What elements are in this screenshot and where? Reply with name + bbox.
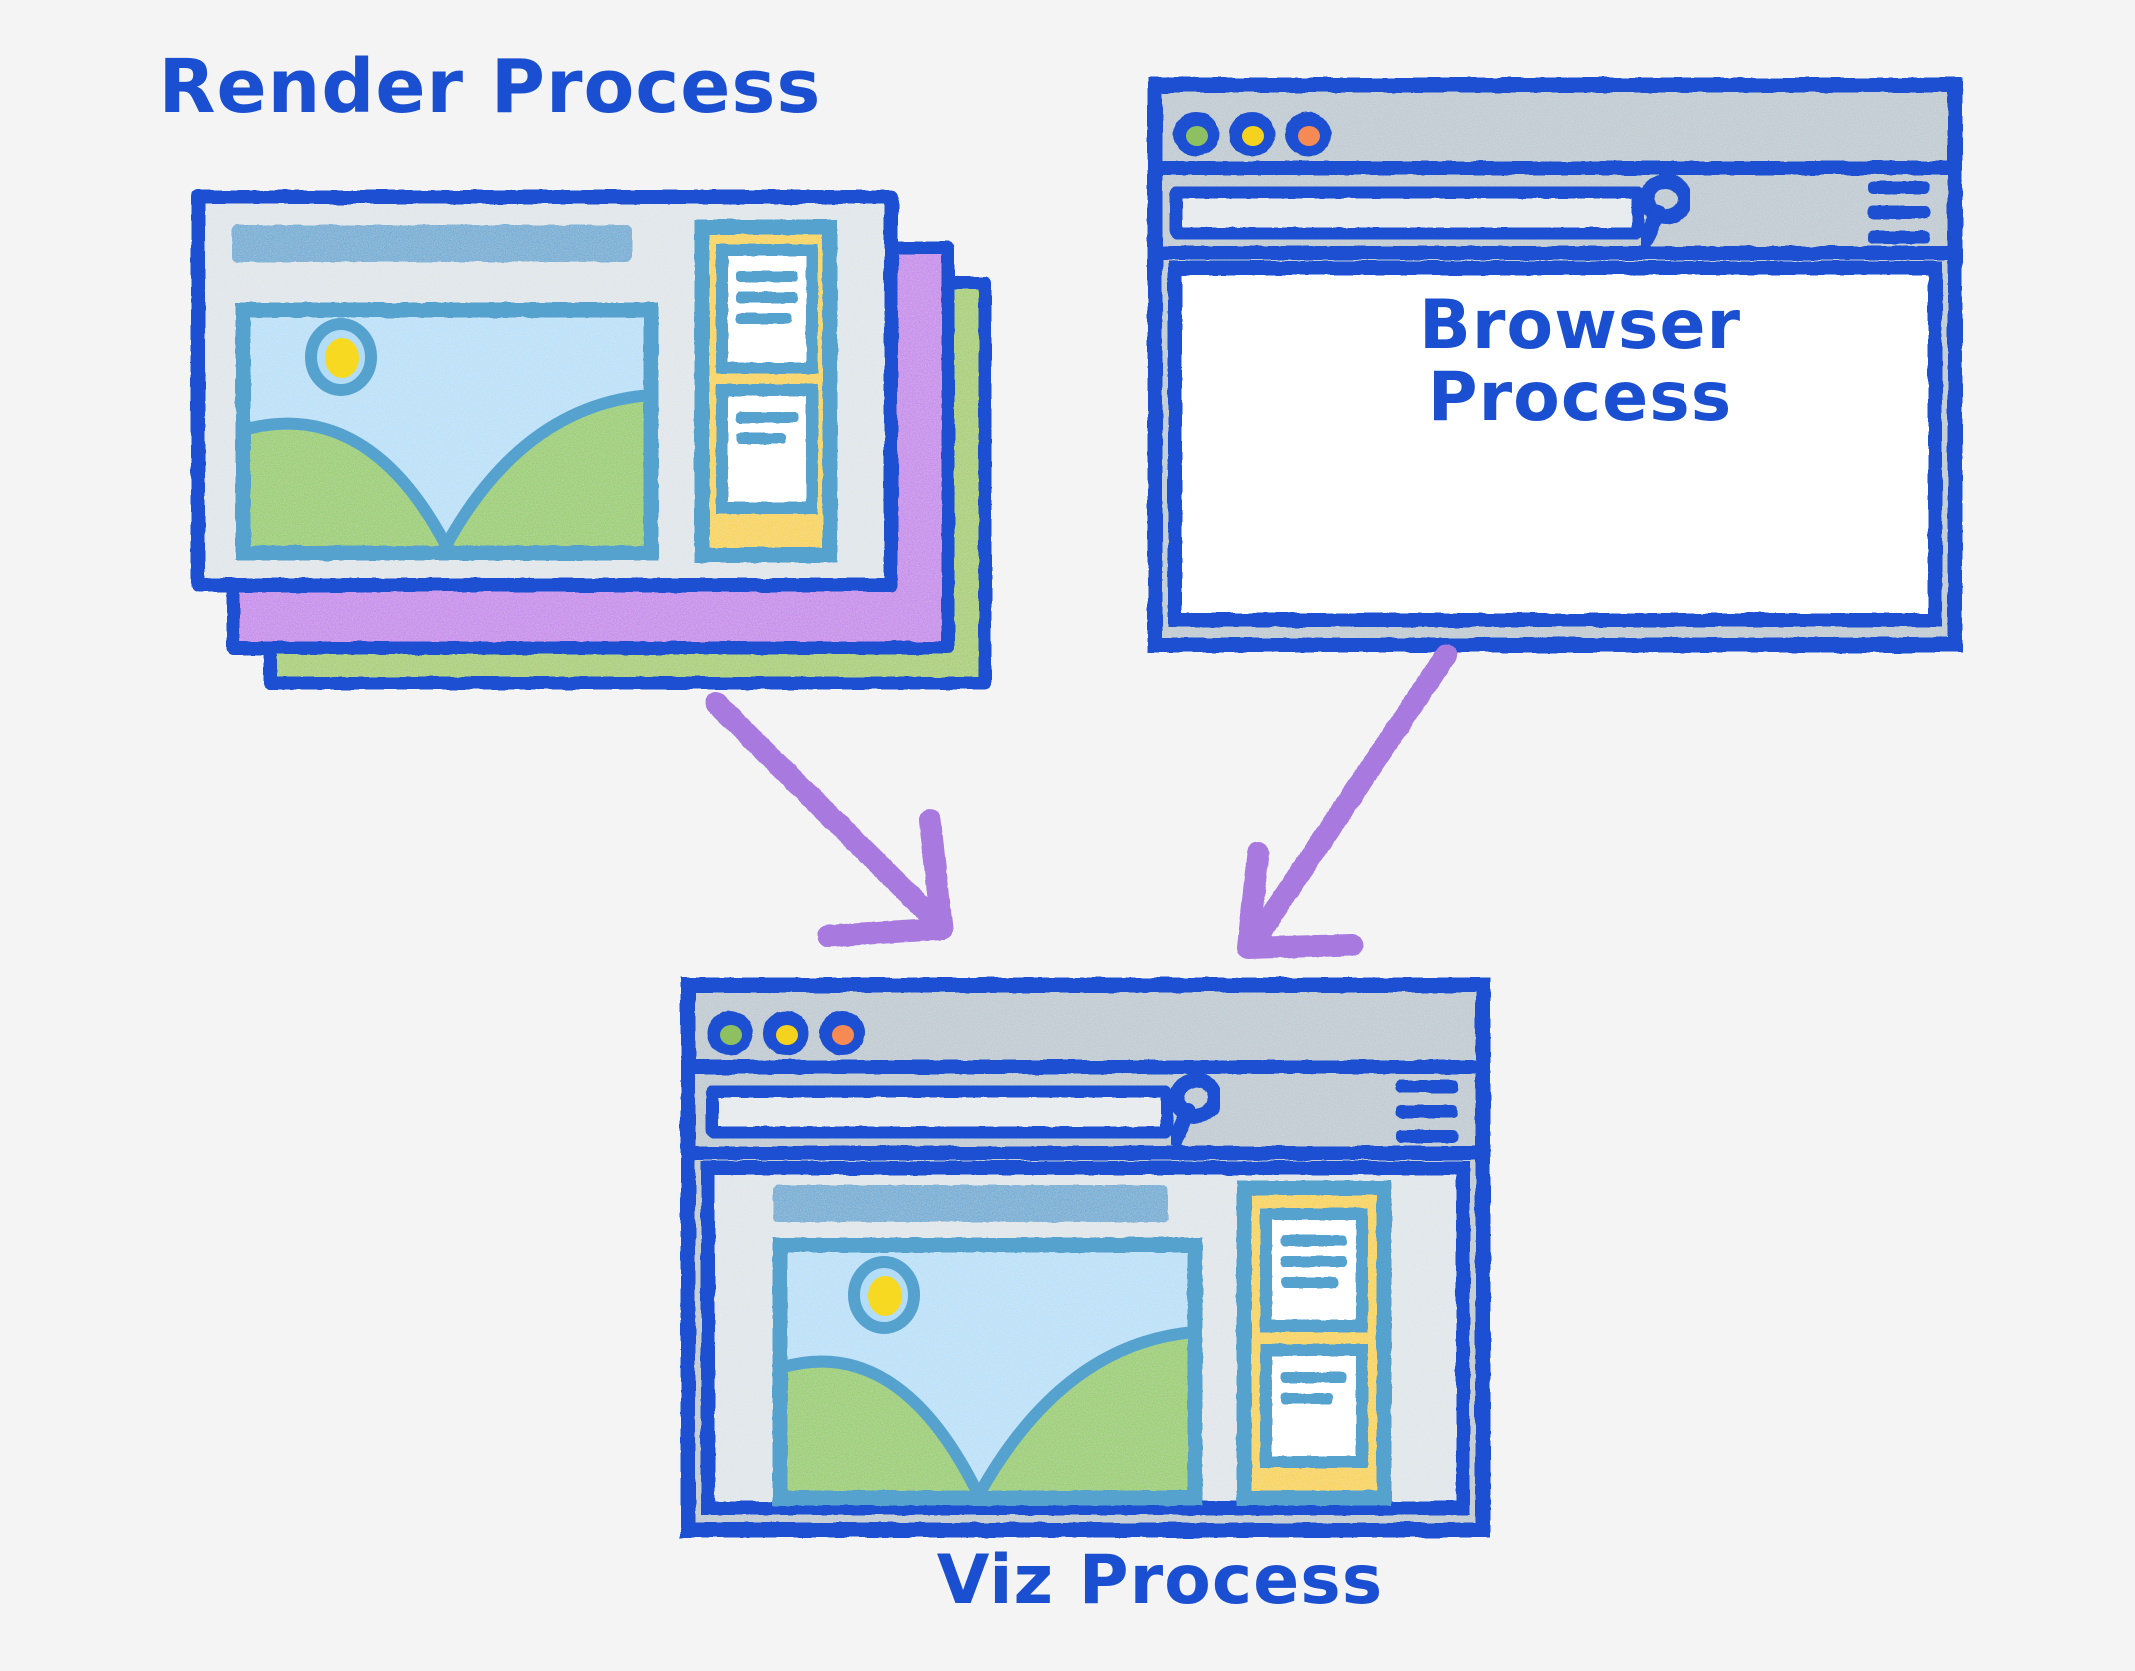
render-window-front[interactable]	[198, 197, 891, 585]
sun-icon	[854, 1262, 914, 1328]
page-title-viz-process: Viz Process	[660, 1545, 1660, 1617]
list-item[interactable]	[1266, 1214, 1362, 1326]
address-bar-input[interactable]	[712, 1091, 1167, 1133]
page-header-bar	[232, 225, 632, 262]
traffic-light-yellow[interactable]	[1229, 112, 1275, 156]
address-bar-input[interactable]	[1176, 192, 1638, 234]
viz-process-window[interactable]	[688, 985, 1483, 1530]
hamburger-menu-icon[interactable]	[1868, 181, 1930, 244]
traffic-light-yellow[interactable]	[763, 1011, 809, 1055]
arrow-render-to-viz	[716, 703, 942, 936]
sun-icon	[311, 324, 371, 390]
traffic-light-orange[interactable]	[819, 1011, 865, 1055]
arrow-browser-to-viz	[1248, 655, 1446, 948]
viz-viewport	[708, 1168, 1463, 1508]
render-process-group[interactable]	[198, 197, 985, 683]
hero-image	[243, 310, 651, 553]
diagram-svg	[0, 0, 2135, 1671]
sidebar-panel[interactable]	[702, 227, 830, 555]
page-header-bar	[773, 1185, 1168, 1222]
titlebar	[1155, 85, 1955, 168]
list-item[interactable]	[722, 390, 812, 508]
page-title-render-process: Render Process	[0, 48, 980, 126]
diagram-canvas: Render Process Browser Process Viz Proce…	[0, 0, 2135, 1671]
hero-image	[780, 1245, 1195, 1498]
list-item[interactable]	[722, 250, 812, 368]
titlebar	[688, 985, 1483, 1067]
hamburger-menu-icon[interactable]	[1396, 1080, 1458, 1143]
toolbar	[688, 1067, 1483, 1153]
traffic-light-green[interactable]	[1173, 112, 1219, 156]
list-item[interactable]	[1266, 1350, 1362, 1462]
toolbar	[1155, 168, 1955, 253]
sidebar-panel[interactable]	[1244, 1188, 1384, 1498]
traffic-light-green[interactable]	[707, 1011, 753, 1055]
page-title-browser-process: Browser Process	[1100, 290, 2060, 434]
traffic-light-orange[interactable]	[1285, 112, 1331, 156]
